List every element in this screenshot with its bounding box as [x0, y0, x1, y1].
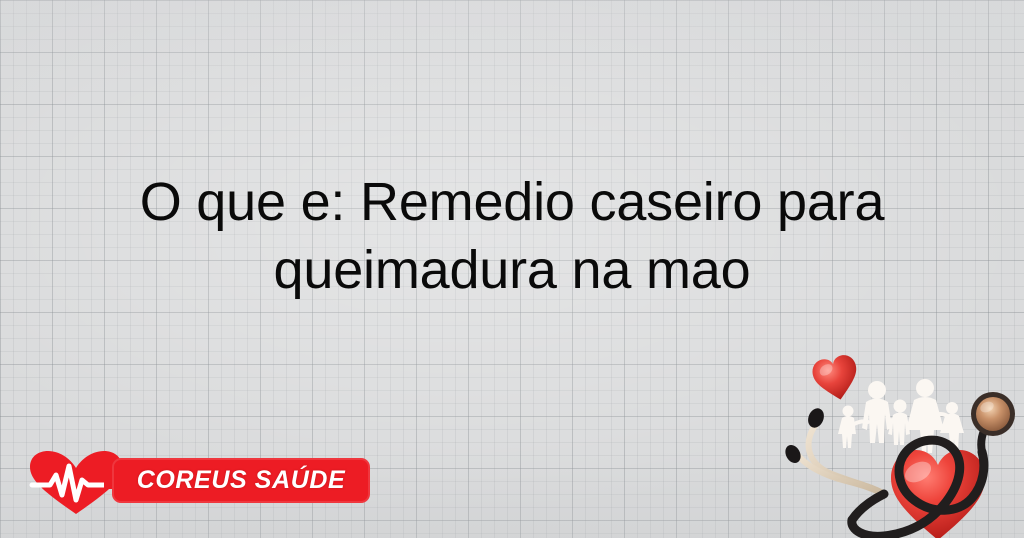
chestpiece-icon — [971, 392, 1015, 436]
brand-logo[interactable]: COREUS SAÚDE — [28, 446, 358, 516]
stethoscope-binaural-icon — [782, 406, 884, 495]
page-title: O que e: Remedio caseiro para queimadura… — [60, 168, 964, 304]
brand-badge[interactable]: COREUS SAÚDE — [112, 458, 370, 503]
stethoscope-family-health-illustration — [780, 348, 1024, 538]
thumbnail-canvas: O que e: Remedio caseiro para queimadura… — [0, 0, 1024, 538]
brand-name-label: COREUS SAÚDE — [112, 458, 370, 503]
small-heart-icon — [810, 353, 862, 404]
heart-pulse-icon — [28, 450, 124, 516]
eartip-icon — [805, 406, 826, 430]
